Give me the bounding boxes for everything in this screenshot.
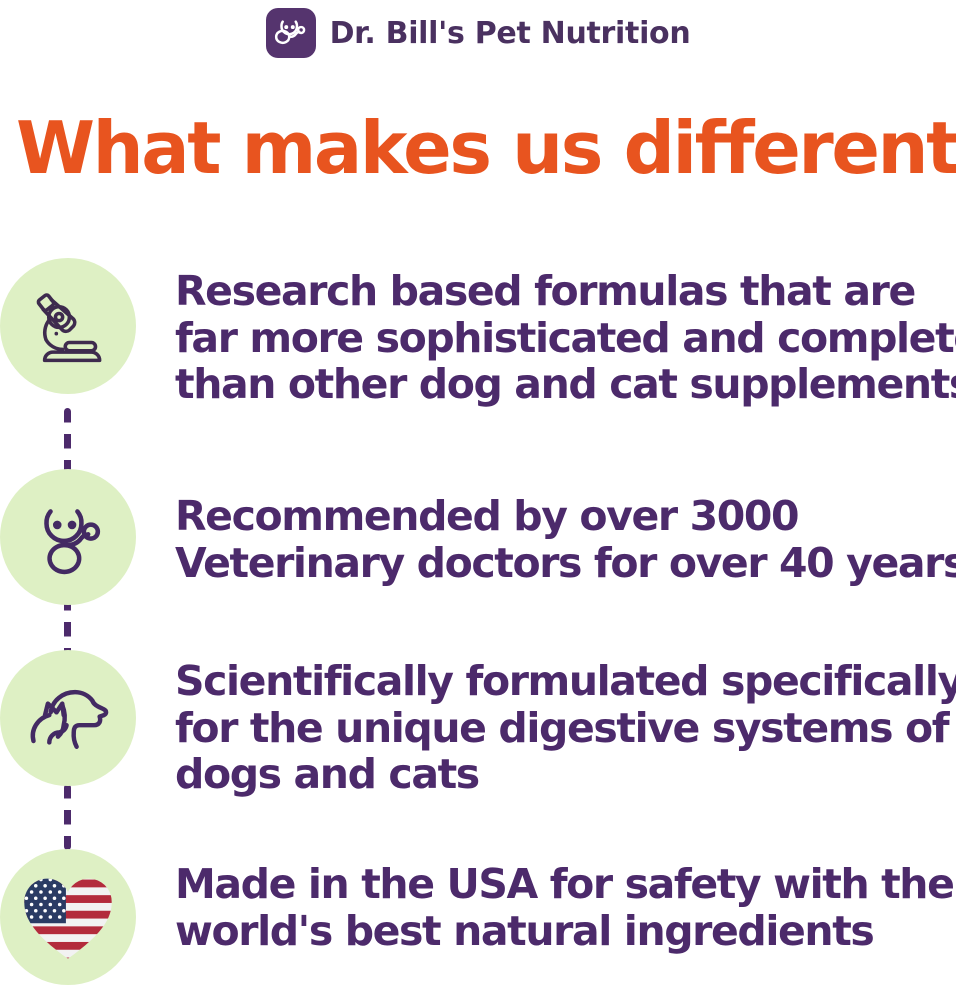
feature-icon-1 (0, 258, 136, 394)
feature-line: Research based formulas that are (175, 268, 956, 315)
brand-header: Dr. Bill's Pet Nutrition (0, 8, 956, 58)
feature-text-2: Recommended by over 3000 Veterinary doct… (136, 453, 956, 586)
feature-line: far more sophisticated and complete (175, 315, 956, 362)
feature-line: Veterinary doctors for over 40 years (175, 540, 956, 587)
list-item: Recommended by over 3000 Veterinary doct… (0, 453, 956, 638)
brand-logo (266, 8, 316, 58)
list-item: Research based formulas that are far mor… (0, 258, 956, 453)
feature-line: Recommended by over 3000 (175, 493, 956, 540)
feature-line: for the unique digestive systems of (175, 705, 956, 752)
feature-icon-2 (0, 469, 136, 605)
stethoscope-logo-icon (272, 14, 310, 52)
feature-line: Scientifically formulated specifically (175, 658, 956, 705)
stethoscope-icon (25, 494, 111, 580)
dog-and-cat-icon (22, 672, 114, 764)
feature-line: than other dog and cat supplements (175, 361, 956, 408)
microscope-icon (24, 282, 112, 370)
feature-line: dogs and cats (175, 751, 956, 798)
usa-flag-heart-icon (16, 865, 120, 969)
list-item: Scientifically formulated specifically f… (0, 638, 956, 833)
feature-text-1: Research based formulas that are far mor… (136, 258, 956, 408)
feature-line: Made in the USA for safety with the (175, 861, 954, 908)
page-title: What makes us different? (16, 112, 941, 184)
feature-line: world's best natural ingredients (175, 908, 954, 955)
feature-icon-3 (0, 650, 136, 786)
feature-list: Research based formulas that are far mor… (0, 258, 956, 973)
feature-text-4: Made in the USA for safety with the worl… (136, 833, 956, 954)
list-item: Made in the USA for safety with the worl… (0, 833, 956, 973)
feature-text-3: Scientifically formulated specifically f… (136, 638, 956, 798)
brand-name: Dr. Bill's Pet Nutrition (330, 16, 691, 51)
feature-icon-4 (0, 849, 136, 985)
